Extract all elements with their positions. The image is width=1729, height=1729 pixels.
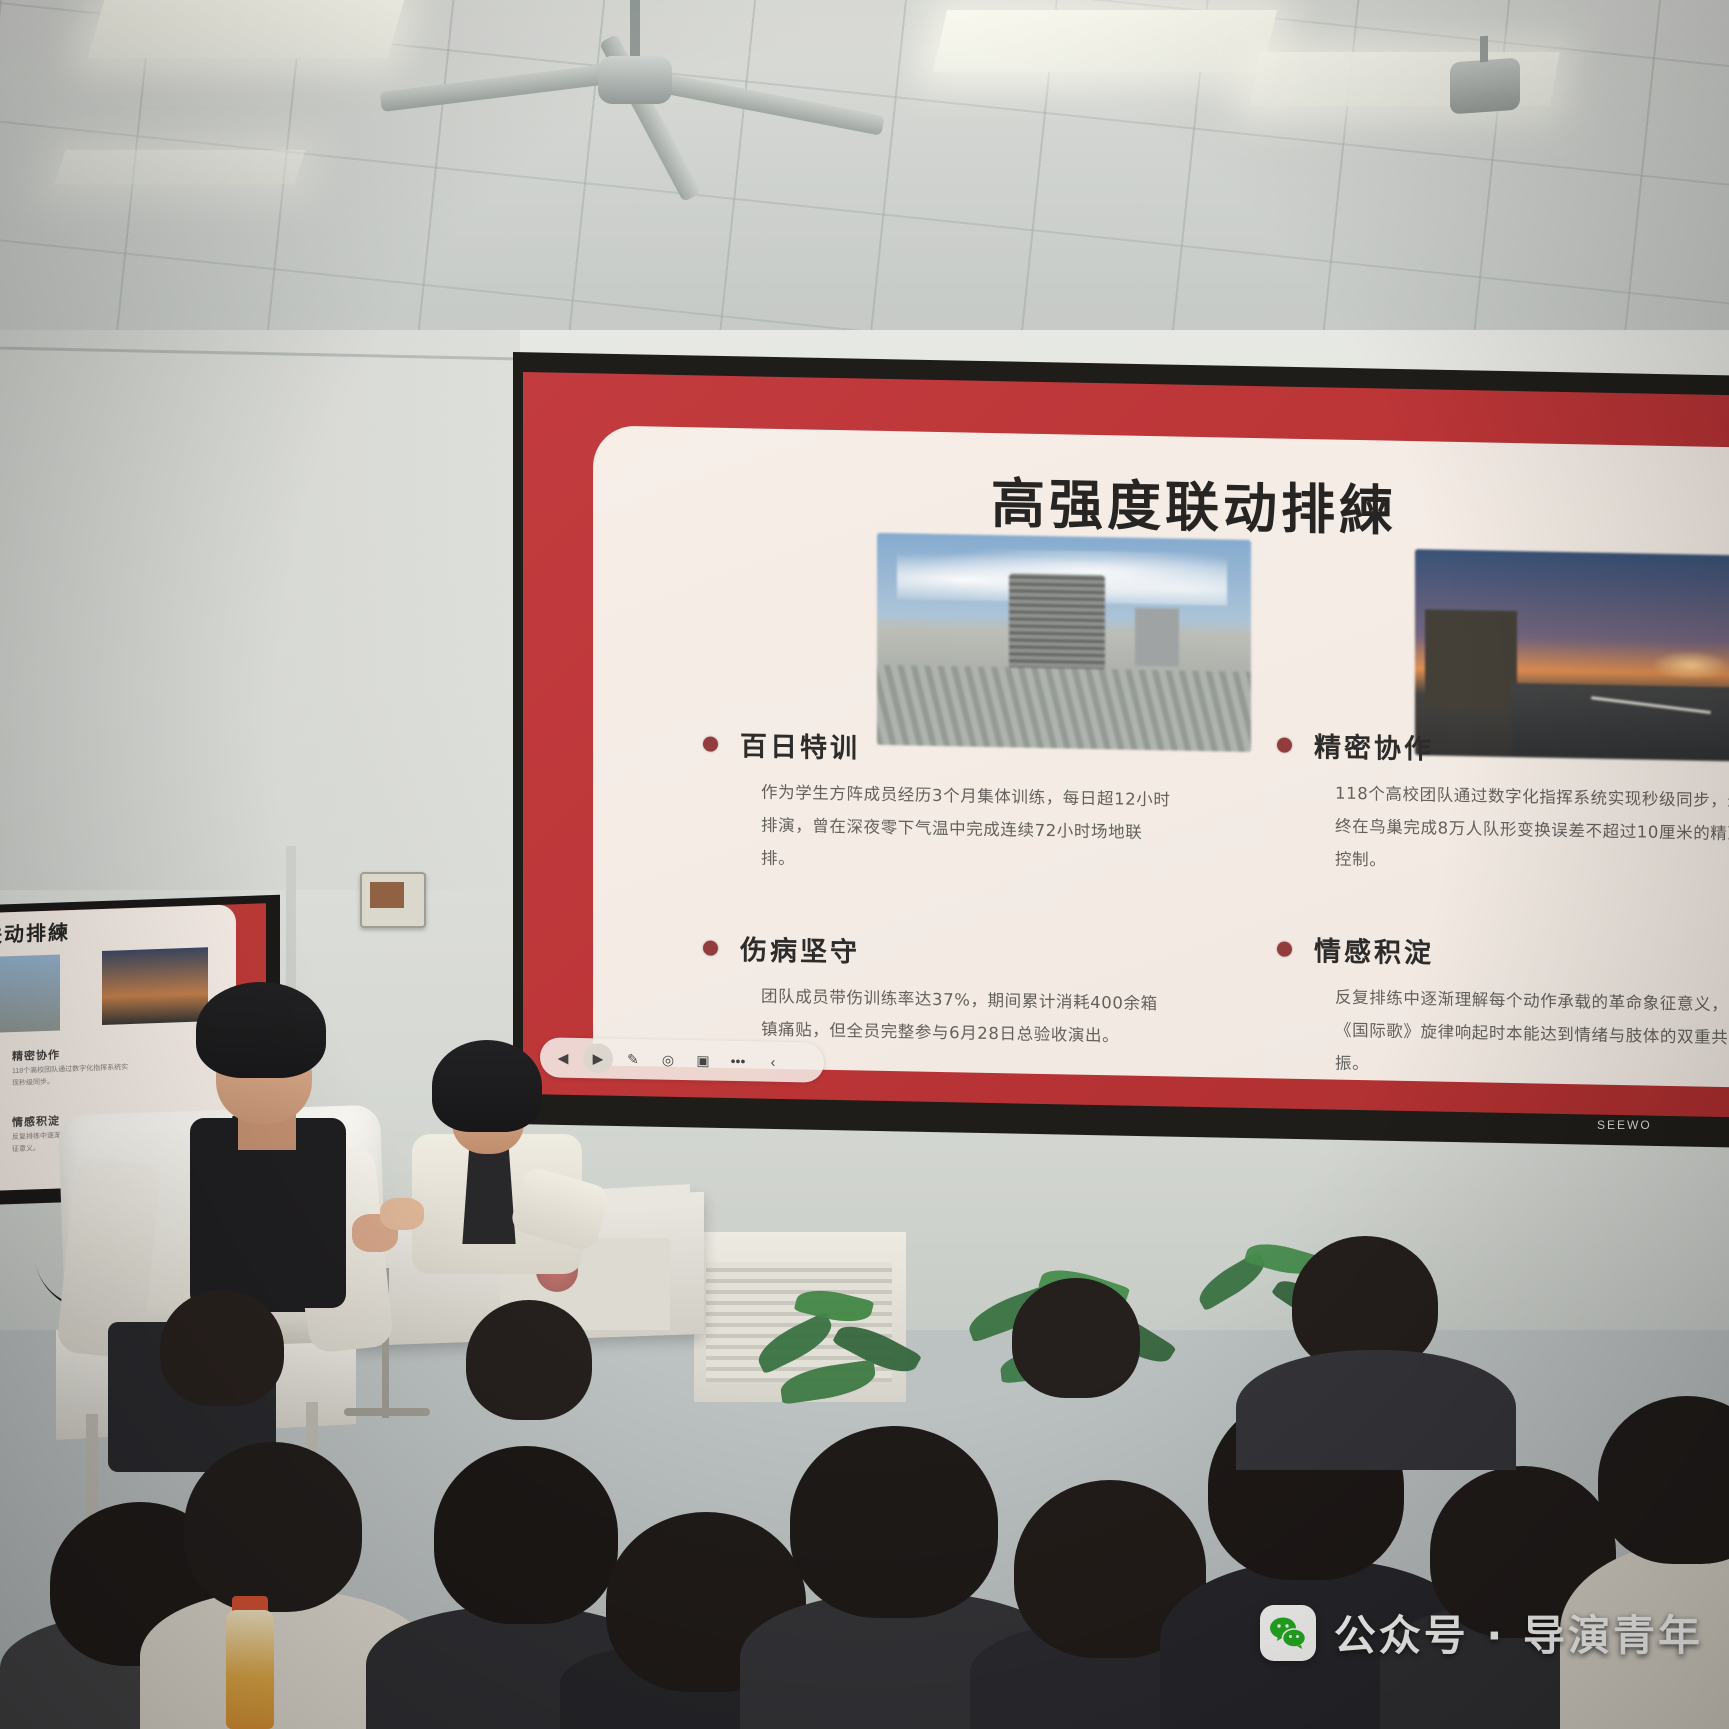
ceiling-fan-motor [598, 56, 672, 104]
presentation-toolbar[interactable]: ◀ ▶ ✎ ◎ ▣ ••• ‹ [540, 1037, 824, 1082]
more-options-button[interactable]: ••• [723, 1046, 753, 1077]
bullet-body: 作为学生方阵成员经历3个月集体训练，每日超12小时排演，曾在深夜零下气温中完成连… [761, 776, 1173, 883]
slide-bullet-item: 情感积淀 反复排练中逐渐理解每个动作承载的革命象征意义，当《国际歌》旋律响起时本… [1277, 928, 1729, 1087]
secondary-bullet-body: 118个高校团队通过数字化指挥系统实现秒级同步。 [12, 1062, 132, 1090]
pen-tool-button[interactable]: ✎ [618, 1044, 648, 1075]
previous-slide-button[interactable]: ◀ [548, 1042, 578, 1073]
stadium-rooftop-photo [877, 533, 1251, 752]
watermark: 公众号 · 导演青年 [1260, 1602, 1703, 1663]
slide-bullet-item: 精密协作 118个高校团队通过数字化指挥系统实现秒级同步，最终在鸟巢完成8万人队… [1277, 724, 1729, 883]
presenter-hair [432, 1040, 542, 1132]
bullet-heading: 情感积淀 [1314, 929, 1434, 970]
slide-bullet-item: 百日特训 作为学生方阵成员经历3个月集体训练，每日超12小时排演，曾在深夜零下气… [703, 723, 1173, 882]
wall-socket-plate [360, 872, 426, 928]
collapse-toolbar-button[interactable]: ‹ [758, 1046, 788, 1077]
slide-bullet-item: 伤病坚守 团队成员带伤训练率达37%，期间累计消耗400余箱镇痛贴，但全员完整参… [703, 927, 1173, 1053]
ceiling [0, 0, 1729, 360]
secondary-bullet-heading: 精密协作 [12, 1046, 60, 1064]
ceiling-fan-rod [630, 0, 640, 62]
secondary-photo [0, 954, 60, 1033]
spotlight-button[interactable]: ◎ [653, 1044, 683, 1075]
ceiling-light-panel [933, 10, 1277, 72]
bullet-heading: 精密协作 [1314, 725, 1434, 766]
bullet-heading: 百日特训 [740, 724, 860, 765]
bullet-dot-icon [1277, 737, 1292, 752]
slide-column-right: 精密协作 118个高校团队通过数字化指挥系统实现秒级同步，最终在鸟巢完成8万人队… [1277, 724, 1729, 1087]
wechat-icon [1260, 1605, 1316, 1661]
display-brand-label: SEEWO [1597, 1118, 1641, 1132]
water-bottle [226, 1610, 274, 1729]
bullet-body: 118个高校团队通过数字化指挥系统实现秒级同步，最终在鸟巢完成8万人队形变换误差… [1335, 777, 1729, 884]
bullet-heading: 伤病坚守 [740, 928, 860, 969]
bullet-body: 团队成员带伤训练率达37%，期间累计消耗400余箱镇痛贴，但全员完整参与6月28… [761, 980, 1173, 1054]
ceiling-speaker [1450, 58, 1520, 115]
secondary-bullet-heading: 情感积淀 [12, 1112, 60, 1130]
bullet-dot-icon [703, 940, 718, 955]
wall-shadow [0, 330, 520, 890]
slide-canvas: 高强度联动排練 百日特训 作为学生方阵成员经历3个月集体训练，每日超12小时排演… [593, 425, 1729, 1087]
presenter-hair [196, 982, 326, 1078]
ceiling-light-panel [54, 150, 305, 184]
bullet-dot-icon [1277, 941, 1292, 956]
secondary-photo [102, 947, 208, 1025]
secondary-slide-title: 联动排練 [0, 916, 70, 948]
record-button[interactable]: ▣ [688, 1045, 718, 1076]
ceiling-light-panel [88, 0, 405, 58]
next-slide-button[interactable]: ▶ [583, 1043, 613, 1074]
slide-column-left: 百日特训 作为学生方阵成员经历3个月集体训练，每日超12小时排演，曾在深夜零下气… [703, 723, 1173, 1053]
presenter-hand [380, 1198, 424, 1230]
bullet-body: 反复排练中逐渐理解每个动作承载的革命象征意义，当《国际歌》旋律响起时本能达到情绪… [1335, 981, 1729, 1088]
potted-plant [744, 1282, 932, 1432]
photo-scene: 高强度联动排練 百日特训 作为学生方阵成员经历3个月集体训练，每日超12小时排演… [0, 0, 1729, 1729]
tripod-foot [344, 1408, 430, 1416]
presentation-display[interactable]: 高强度联动排練 百日特训 作为学生方阵成员经历3个月集体训练，每日超12小时排演… [523, 372, 1729, 1117]
bullet-dot-icon [703, 736, 718, 751]
watermark-text: 公众号 · 导演青年 [1334, 1602, 1703, 1663]
